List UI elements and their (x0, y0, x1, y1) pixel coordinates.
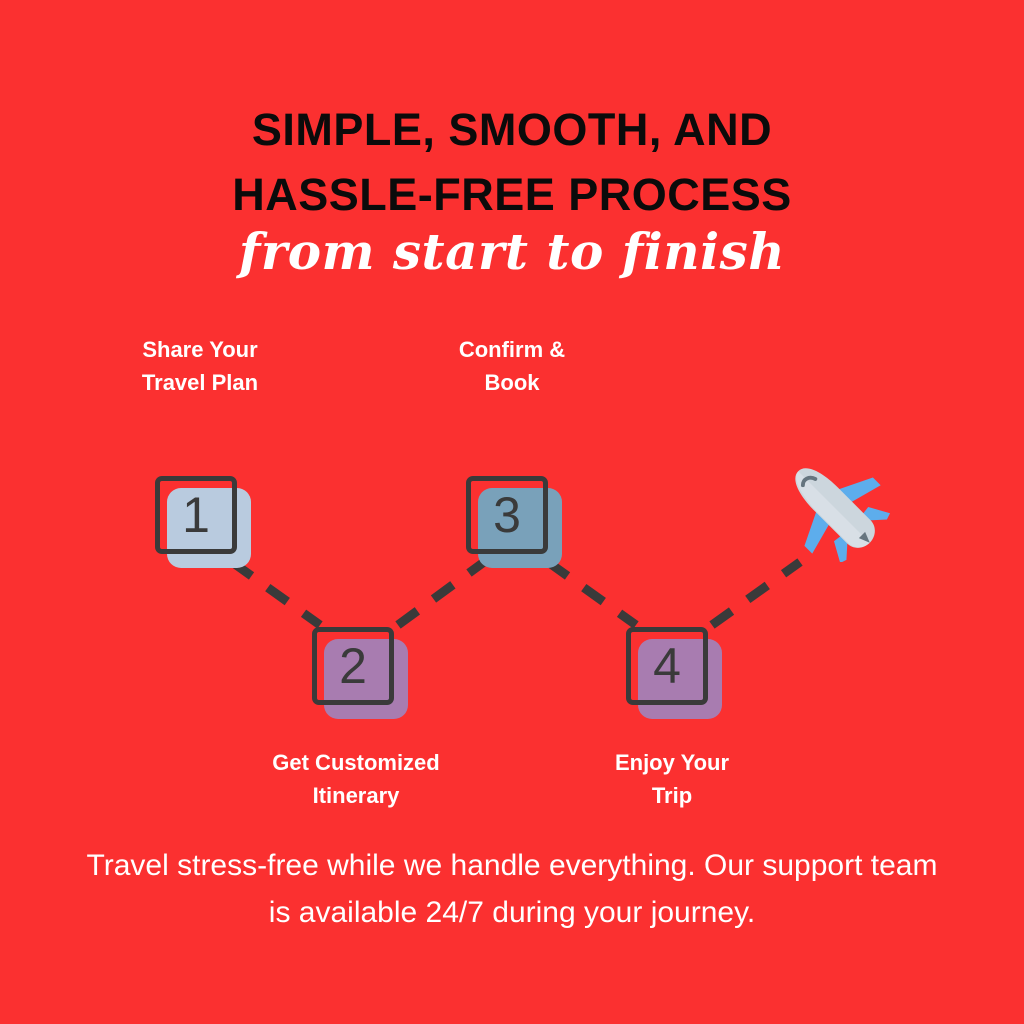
step-label-1: Share Your Travel Plan (90, 333, 310, 399)
footer-text: Travel stress-free while we handle every… (82, 842, 942, 936)
step-label-3: Confirm & Book (402, 333, 622, 399)
step-node-1-number: 1 (155, 476, 237, 554)
step-node-4-number: 4 (626, 627, 708, 705)
poster-canvas: SIMPLE, SMOOTH, AND HASSLE-FREE PROCESS … (0, 0, 1024, 1024)
airplane-icon (778, 452, 890, 562)
step-node-2[interactable]: 2 (312, 627, 410, 721)
step-label-4: Enjoy Your Trip (562, 746, 782, 812)
step-node-4[interactable]: 4 (626, 627, 724, 721)
step-label-2: Get Customized Itinerary (246, 746, 466, 812)
step-node-3[interactable]: 3 (466, 476, 564, 570)
step-node-3-number: 3 (466, 476, 548, 554)
step-node-2-number: 2 (312, 627, 394, 705)
step-node-1[interactable]: 1 (155, 476, 253, 570)
